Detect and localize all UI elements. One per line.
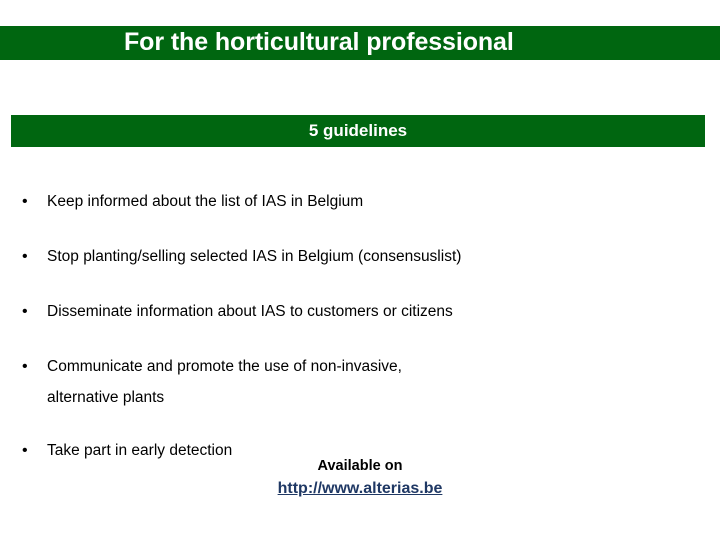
subtitle-label: 5 guidelines: [11, 115, 705, 147]
subtitle-banner: 5 guidelines: [11, 115, 705, 147]
list-item: • Disseminate information about IAS to c…: [18, 296, 678, 327]
title-banner: For the horticultural professional: [0, 26, 720, 60]
page-title: For the horticultural professional: [124, 26, 514, 60]
list-item: • Stop planting/selling selected IAS in …: [18, 241, 678, 272]
list-item-label: Keep informed about the list of IAS in B…: [47, 186, 678, 217]
footer: Available on http://www.alterias.be: [0, 456, 720, 499]
bullet-icon: •: [22, 241, 32, 272]
bullet-icon: •: [22, 186, 32, 217]
list-item-label: Stop planting/selling selected IAS in Be…: [47, 241, 678, 272]
footer-available-label: Available on: [0, 456, 720, 476]
bullet-icon: •: [22, 296, 32, 327]
list-item: • Keep informed about the list of IAS in…: [18, 186, 678, 217]
guidelines-list: • Keep informed about the list of IAS in…: [18, 186, 678, 490]
bullet-icon: •: [22, 351, 32, 382]
list-item-label: Communicate and promote the use of non-i…: [47, 351, 678, 382]
website-link[interactable]: http://www.alterias.be: [278, 478, 443, 499]
list-item-label-continued: alternative plants: [47, 382, 678, 413]
list-item: • Communicate and promote the use of non…: [18, 351, 678, 413]
slide-canvas: For the horticultural professional 5 gui…: [0, 0, 720, 540]
list-item-label: Disseminate information about IAS to cus…: [47, 296, 678, 327]
